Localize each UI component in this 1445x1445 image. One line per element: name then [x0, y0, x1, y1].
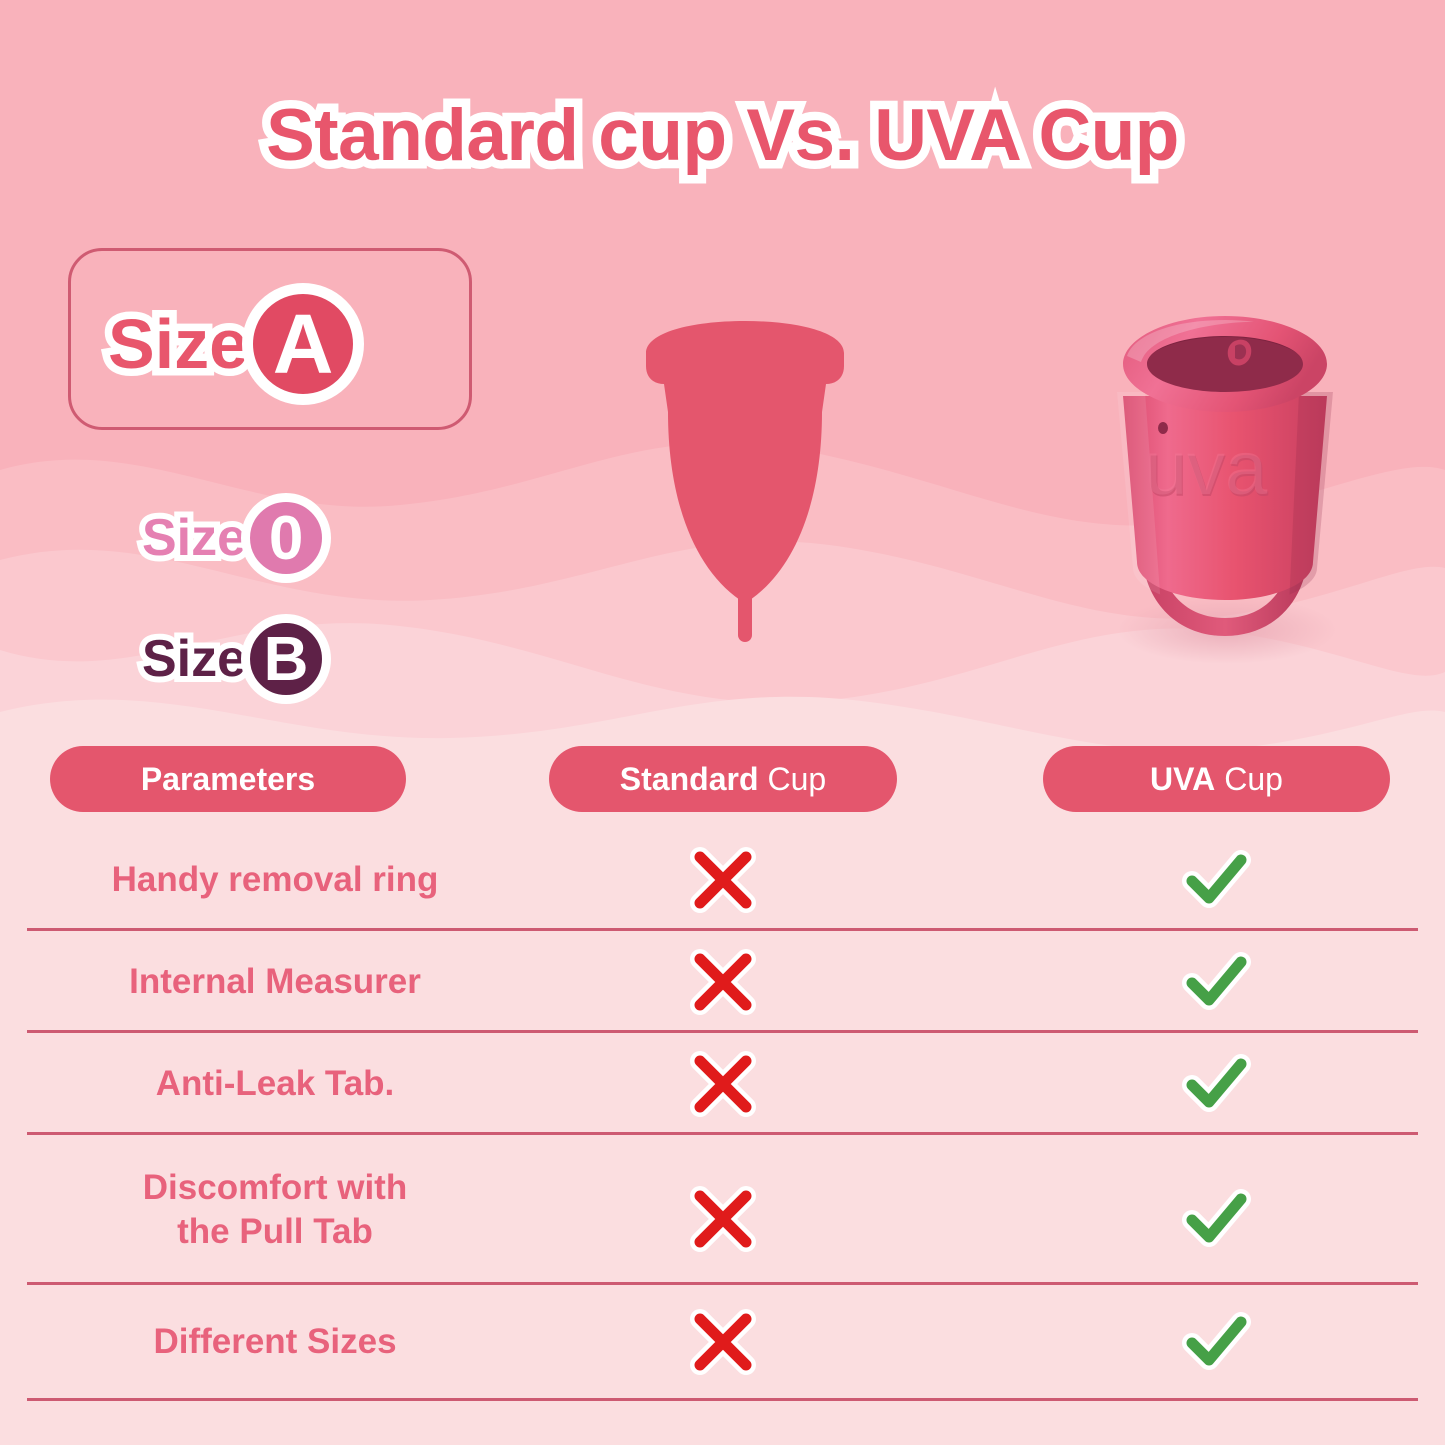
table-row-4-standard-cross	[688, 1307, 758, 1377]
table-row-2-uva-check	[1181, 1049, 1251, 1119]
size-a-word: Size	[108, 304, 248, 384]
page-title: Standard cup Vs. UVA Cup	[0, 94, 1445, 177]
row-divider-5	[27, 1398, 1418, 1401]
table-row-0-uva-check	[1181, 845, 1251, 915]
row-label-discomfort-pull-tab: Discomfort with the Pull Tab	[30, 1166, 520, 1254]
size-badge-b[interactable]: Size B	[142, 614, 331, 704]
header-standard-strong: Standard	[620, 761, 759, 798]
size-0-letter: 0	[241, 493, 331, 583]
header-uva-strong: UVA	[1150, 761, 1215, 798]
header-standard-light: Cup	[767, 761, 826, 798]
row-label-internal-measurer: Internal Measurer	[30, 960, 520, 1004]
row-divider-2	[27, 1030, 1418, 1033]
table-row-1-standard-cross	[688, 947, 758, 1017]
table-row-1-uva-check	[1181, 947, 1251, 1017]
table-row-3-uva-check	[1181, 1184, 1251, 1254]
header-parameters-label: Parameters	[141, 761, 315, 798]
table-row-0-standard-cross	[688, 845, 758, 915]
size-a-letter: A	[242, 283, 364, 405]
size-b-letter: B	[241, 614, 331, 704]
standard-cup-illustration	[600, 300, 890, 670]
table-row-2-standard-cross	[688, 1049, 758, 1119]
size-b-word: Size	[142, 629, 246, 689]
header-uva-light: Cup	[1224, 761, 1283, 798]
size-0-word: Size	[142, 508, 246, 568]
table-header-uva-cup: UVA Cup	[1043, 746, 1390, 812]
table-row-3-standard-cross	[688, 1184, 758, 1254]
svg-text:uva: uva	[1145, 426, 1268, 511]
infographic-page: Standard cup Vs. UVA Cup Size A Size 0 S…	[0, 0, 1445, 1445]
row-divider-3	[27, 1132, 1418, 1135]
row-label-anti-leak-tab: Anti-Leak Tab.	[30, 1062, 520, 1106]
uva-cup-illustration: uva uva	[1075, 300, 1375, 675]
row-label-handy-removal-ring: Handy removal ring	[30, 858, 520, 902]
table-header-parameters: Parameters	[50, 746, 406, 812]
row-label-different-sizes: Different Sizes	[30, 1320, 520, 1364]
table-row-4-uva-check	[1181, 1307, 1251, 1377]
row-divider-4	[27, 1282, 1418, 1285]
size-badge-0[interactable]: Size 0	[142, 493, 331, 583]
size-badge-a[interactable]: Size A	[108, 283, 364, 405]
row-divider-1	[27, 928, 1418, 931]
table-header-standard-cup: Standard Cup	[549, 746, 897, 812]
